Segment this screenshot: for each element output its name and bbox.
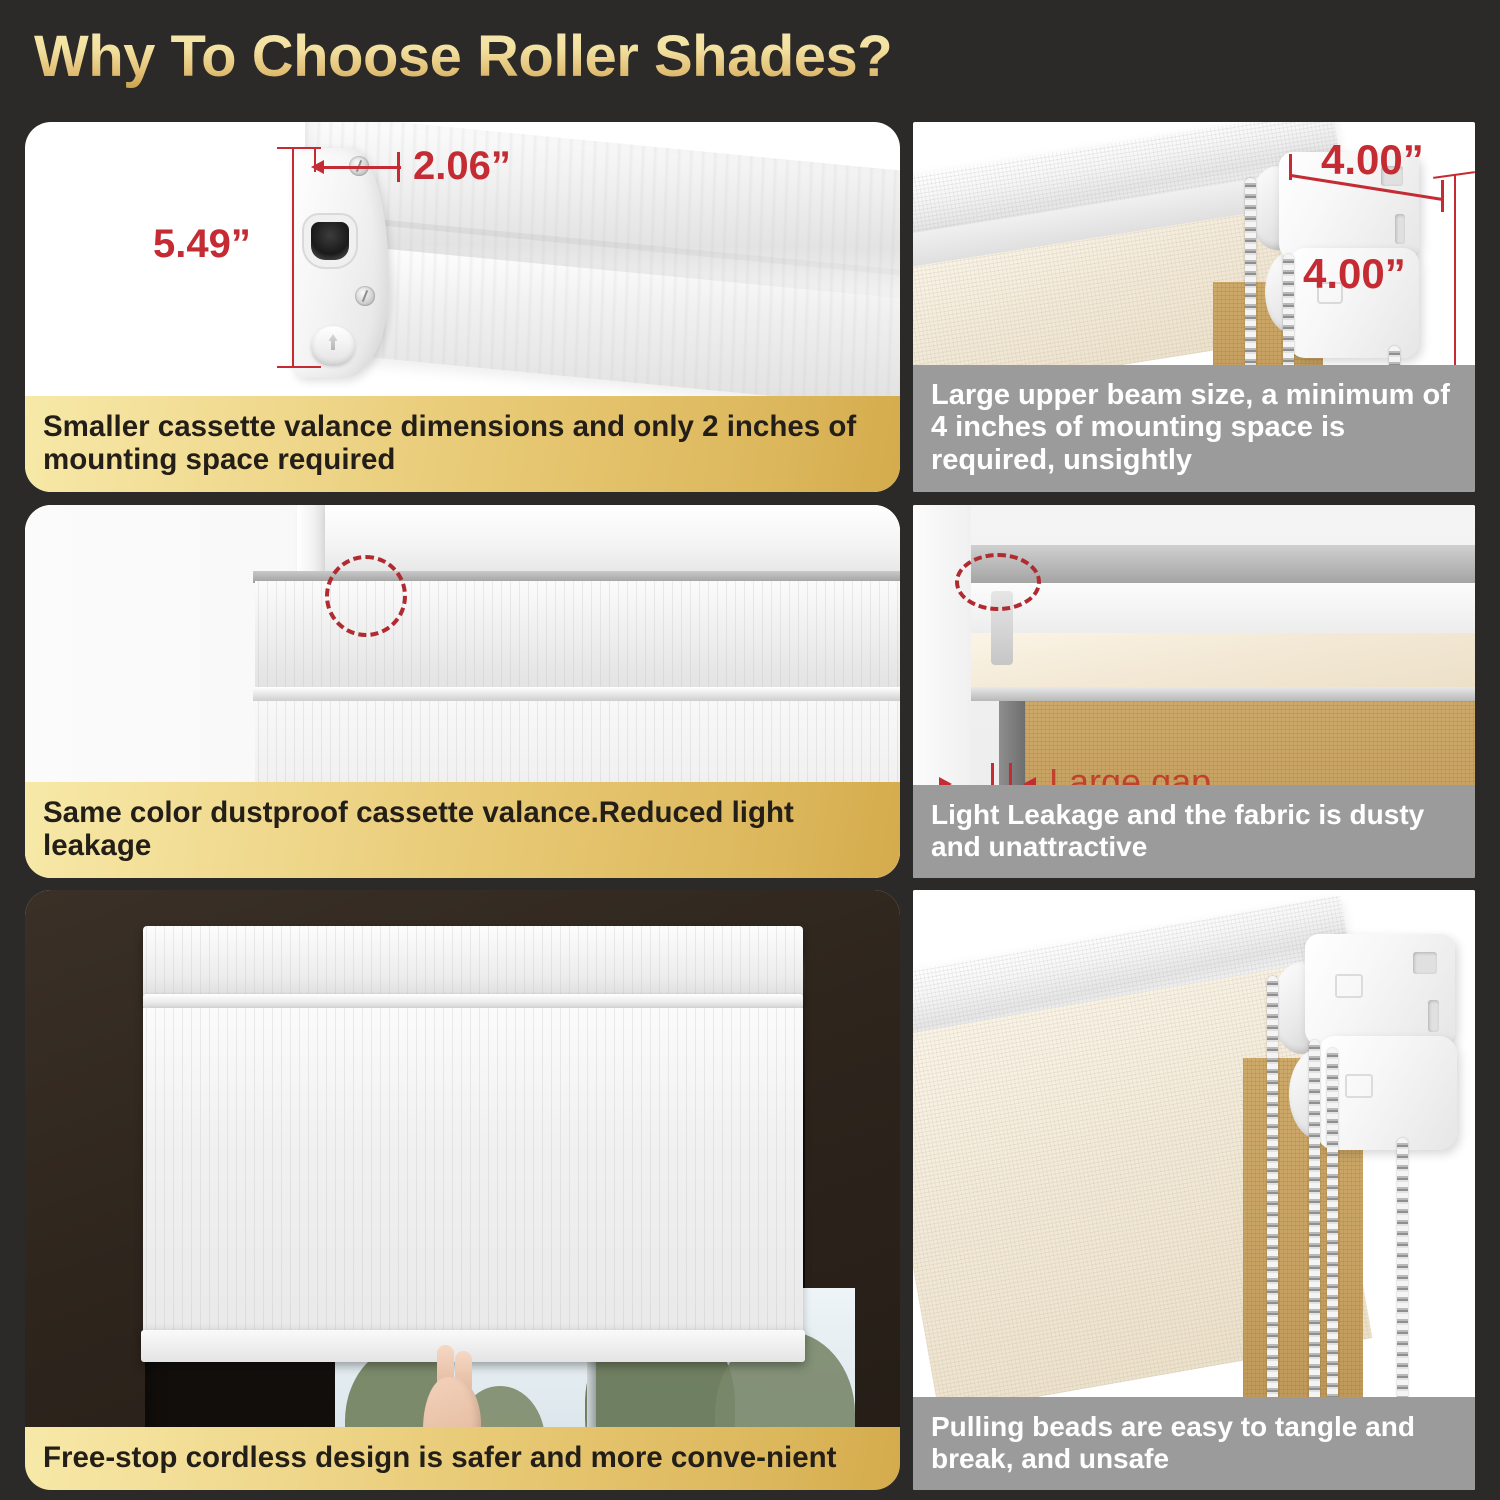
beam-width-dimension-label: 4.00” — [1321, 136, 1424, 184]
highlight-ellipse-icon — [955, 553, 1041, 611]
bottom-rail-edge — [971, 687, 1475, 701]
panel-cordless-design: Free-stop cordless design is safer and m… — [25, 890, 900, 1490]
bracket-upper-slot-1 — [1413, 952, 1437, 974]
cassette-valance-head — [143, 926, 803, 1000]
panel-caption-smaller-gap: Same color dustproof cassette valance.Re… — [25, 782, 900, 878]
roller-shade-fabric-texture — [143, 1008, 803, 1338]
bead-chain-middle-2[interactable] — [1327, 1048, 1338, 1442]
highlight-circle-icon — [325, 555, 407, 637]
height-dimension-label: 5.49” — [153, 222, 251, 267]
end-cap-screw-bottom-icon — [355, 286, 375, 306]
beam-height-dimension-label: 4.00” — [1303, 250, 1406, 298]
window-head-casing — [325, 505, 900, 571]
panel-caption-pulling-beads: Pulling beads are easy to tangle and bre… — [913, 1397, 1475, 1490]
bracket-lower — [1317, 1036, 1457, 1150]
page-header: Why To Choose Roller Shades? — [0, 0, 1500, 112]
bracket-lower-emboss-icon — [1345, 1074, 1373, 1098]
width-dim-arrow-left-icon — [311, 160, 324, 174]
cordless-design-photo — [25, 890, 900, 1490]
panel-smaller-gap: smaller gap Same color dustproof cassett… — [25, 505, 900, 878]
panel-caption-cordless-design: Free-stop cordless design is safer and m… — [25, 1427, 900, 1490]
beam-height-dimension-line — [1454, 174, 1456, 376]
beam-width-tick-right — [1441, 180, 1444, 212]
panel-pulling-beads: Pulling beads are easy to tangle and bre… — [913, 890, 1475, 1490]
valance-bottom-rail — [253, 687, 900, 701]
height-dim-tick-bottom — [277, 366, 321, 368]
bracket-slot-2 — [1395, 214, 1405, 244]
width-dim-tick-right — [397, 152, 400, 182]
bracket-upper-emboss-icon — [1335, 974, 1363, 998]
bracket-upper — [1305, 934, 1455, 1046]
panel-caption-large-gap: Light Leakage and the fabric is dusty an… — [913, 785, 1475, 878]
beam-width-tick-left — [1289, 154, 1292, 180]
height-dim-tick-top — [277, 147, 321, 149]
width-dimension-line — [315, 166, 401, 169]
bead-chain-left[interactable] — [1267, 976, 1278, 1442]
panel-caption-upper-beam: Large upper beam size, a minimum of 4 in… — [913, 365, 1475, 492]
panel-upper-beam-dimensions: 4.00” 4.00” Large upper beam size, a min… — [913, 122, 1475, 492]
panel-caption-cassette-dimensions: Smaller cassette valance dimensions and … — [25, 396, 900, 492]
beam-white-face — [971, 583, 1475, 639]
page-title: Why To Choose Roller Shades? — [34, 23, 892, 90]
panel-large-gap: Large gap Light Leakage and the fabric i… — [913, 505, 1475, 878]
width-dimension-label: 2.06” — [413, 144, 511, 189]
height-dimension-line — [292, 148, 294, 368]
cream-fabric-strip — [971, 633, 1475, 689]
comparison-grid: 2.06” 5.49” Smaller cassette valance dim… — [0, 112, 1500, 1500]
end-cap-slot-icon — [311, 222, 349, 260]
roller-shade-fabric — [143, 1008, 803, 1338]
panel-cassette-dimensions: 2.06” 5.49” Smaller cassette valance dim… — [25, 122, 900, 492]
bracket-upper-slot-2 — [1428, 1000, 1439, 1032]
bead-chain-middle-1[interactable] — [1309, 1040, 1320, 1442]
end-cap-mount-knob-icon — [311, 326, 355, 366]
valance-head-texture — [143, 926, 803, 1000]
valance-end-cap — [293, 148, 389, 378]
